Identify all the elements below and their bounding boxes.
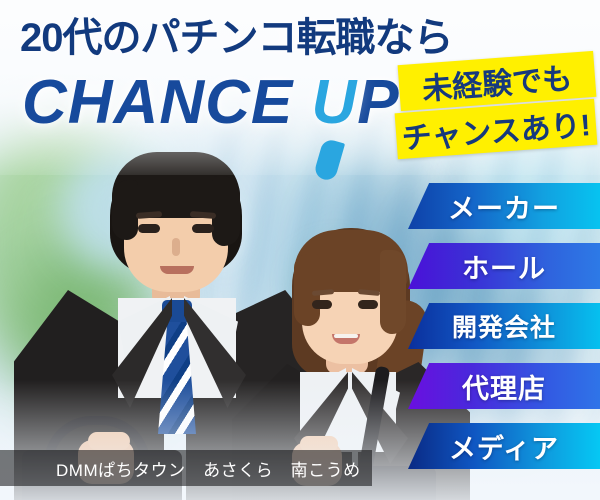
category-item-media[interactable]: メディア [408,423,600,469]
category-list: メーカー ホール 開発会社 代理店 メディア [0,0,600,500]
caption-bar: DMMぱちタウン あさくら 南こうめ [0,450,372,486]
category-label-media: メディア [449,427,559,466]
promo-banner: 20代のパチンコ転職なら CHANCE UP 未経験でも チャンスあり! メーカ… [0,0,600,500]
category-item-agency[interactable]: 代理店 [408,363,600,409]
category-item-development-company[interactable]: 開発会社 [408,303,600,349]
category-item-hall[interactable]: ホール [408,243,600,289]
caption-text: DMMぱちタウン あさくら 南こうめ [56,456,361,481]
category-label-development-company: 開発会社 [452,308,556,344]
category-label-maker: メーカー [448,187,560,226]
category-item-maker[interactable]: メーカー [408,183,600,229]
category-label-agency: 代理店 [462,367,546,406]
category-label-hall: ホール [462,247,546,286]
